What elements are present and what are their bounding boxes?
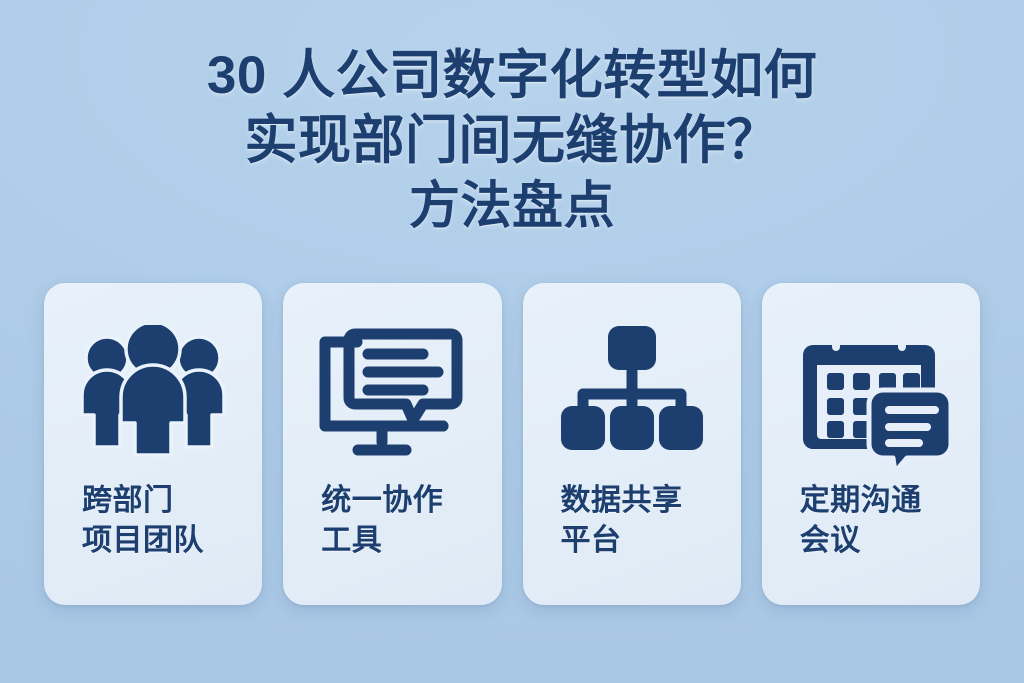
card-label: 统一协作 工具 [283, 481, 501, 560]
monitor-chat-icon [283, 315, 501, 467]
people-group-icon [44, 315, 262, 467]
card-label-line-1: 跨部门 [82, 481, 248, 521]
card-label-line-2: 工具 [321, 521, 487, 561]
title-line-3: 方法盘点 [0, 175, 1024, 237]
card-unified-collaboration-tool[interactable]: 统一协作 工具 [283, 283, 501, 605]
method-cards-row: 跨部门 项目团队 [44, 283, 980, 605]
calendar-chat-icon [762, 315, 980, 467]
title-line-1: 30 人公司数字化转型如何 [0, 44, 1024, 109]
card-label-line-2: 会议 [800, 521, 966, 561]
poster-title: 30 人公司数字化转型如何 实现部门间无缝协作？ 方法盘点 [0, 44, 1024, 238]
card-cross-department-team[interactable]: 跨部门 项目团队 [44, 283, 262, 605]
poster-canvas: 30 人公司数字化转型如何 实现部门间无缝协作？ 方法盘点 [0, 0, 1024, 683]
card-label: 跨部门 项目团队 [44, 481, 262, 560]
card-label-line-2: 平台 [561, 521, 727, 561]
card-label: 数据共享 平台 [523, 481, 741, 560]
card-regular-meeting[interactable]: 定期沟通 会议 [762, 283, 980, 605]
card-data-sharing-platform[interactable]: 数据共享 平台 [523, 283, 741, 605]
card-label: 定期沟通 会议 [762, 481, 980, 560]
title-line-2: 实现部门间无缝协作？ [0, 109, 1024, 174]
card-label-line-1: 数据共享 [561, 481, 727, 521]
hierarchy-network-icon [523, 315, 741, 467]
card-label-line-1: 定期沟通 [800, 481, 966, 521]
card-label-line-1: 统一协作 [321, 481, 487, 521]
card-label-line-2: 项目团队 [82, 521, 248, 561]
